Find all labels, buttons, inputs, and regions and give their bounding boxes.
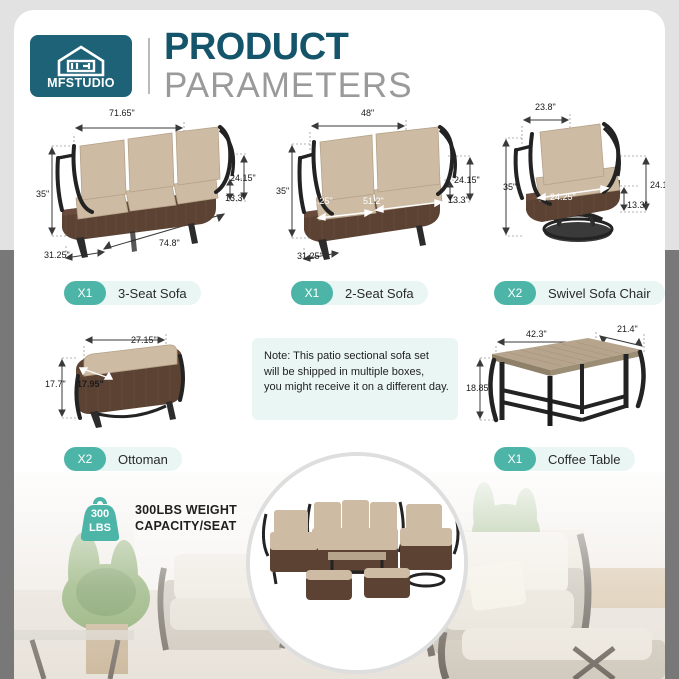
dim-2seat-seat-width: 51.2" [363, 196, 384, 206]
dim-3seat-height: 35" [36, 189, 49, 199]
product-label: 3-Seat Sofa [106, 286, 201, 301]
product-parameters-card: MFSTUDIO PRODUCT PARAMETERS [14, 10, 665, 679]
weight-badge-unit: LBS [76, 522, 124, 534]
note-line-2: will be shipped in multiple boxes, [264, 365, 446, 381]
product-label: 2-Seat Sofa [333, 286, 428, 301]
weight-capacity: 300 LBS 300LBS WEIGHT CAPACITY/SEAT [76, 494, 237, 542]
weight-text-line-1: 300LBS WEIGHT [135, 502, 237, 519]
dim-table-top-width: 42.3" [526, 329, 547, 339]
product-label: Swivel Sofa Chair [536, 286, 665, 301]
dim-2seat-top-width: 48" [361, 108, 374, 118]
house-logo-icon [53, 44, 109, 78]
qty-badge: X1 [64, 281, 106, 305]
weight-kettlebell-icon: 300 LBS [76, 494, 124, 542]
weight-badge-value: 300 [76, 508, 124, 520]
dim-2seat-height: 35" [276, 186, 289, 196]
dim-table-top-depth: 21.4" [617, 324, 638, 334]
qty-badge: X2 [64, 447, 106, 471]
page-subtitle: PARAMETERS [164, 68, 413, 103]
dim-3seat-top-width: 71.65" [109, 108, 135, 118]
qty-badge: X1 [494, 447, 536, 471]
product-pill-coffee-table[interactable]: X1 Coffee Table [494, 447, 635, 471]
header-divider [148, 38, 150, 94]
dim-ottoman-depth: 17.95" [77, 379, 104, 389]
note-line-1: Note: This patio sectional sofa set [264, 349, 446, 365]
note-line-3: you might receive it on a different day. [264, 380, 446, 396]
product-pill-ottoman[interactable]: X2 Ottoman [64, 447, 182, 471]
product-pill-two-seat-sofa[interactable]: X1 2-Seat Sofa [291, 281, 428, 305]
dim-3seat-back-height: 24.15" [230, 173, 256, 183]
dim-table-height: 18.85" [466, 383, 492, 393]
shipping-note: Note: This patio sectional sofa set will… [252, 338, 458, 420]
dim-swivel-seat-height: 13.3" [627, 200, 648, 210]
dim-ottoman-height: 17.7" [45, 379, 66, 389]
dim-ottoman-top-width: 27.15" [131, 335, 157, 345]
dim-3seat-seat-height: 13.3" [225, 193, 246, 203]
dim-2seat-seat-depth: 24.25" [307, 196, 333, 206]
product-pill-swivel-chair[interactable]: X2 Swivel Sofa Chair [494, 281, 665, 305]
dim-swivel-height: 35" [503, 182, 516, 192]
dim-3seat-base-width: 74.8" [159, 238, 180, 248]
dim-2seat-back-height: 24.15" [454, 175, 480, 185]
product-pill-three-seat-sofa[interactable]: X1 3-Seat Sofa [64, 281, 201, 305]
weight-text-line-2: CAPACITY/SEAT [135, 518, 237, 535]
dim-swivel-seat-depth: 24.25" [550, 192, 576, 202]
qty-badge: X2 [494, 281, 536, 305]
product-set-inset [246, 452, 468, 674]
product-label: Coffee Table [536, 452, 635, 467]
page-title: PRODUCT [164, 28, 413, 66]
dim-swivel-back-height: 24.15" [650, 180, 665, 190]
qty-badge: X1 [291, 281, 333, 305]
brand-logo: MFSTUDIO [30, 35, 132, 97]
product-label: Ottoman [106, 452, 182, 467]
dim-swivel-top-width: 23.8" [535, 102, 556, 112]
header: MFSTUDIO PRODUCT PARAMETERS [30, 28, 413, 103]
brand-logo-text: MFSTUDIO [47, 76, 115, 90]
dim-2seat-depth: 31.25" [297, 251, 323, 261]
dim-3seat-depth: 31.25" [44, 250, 70, 260]
dim-2seat-seat-height: 13.3" [448, 195, 469, 205]
